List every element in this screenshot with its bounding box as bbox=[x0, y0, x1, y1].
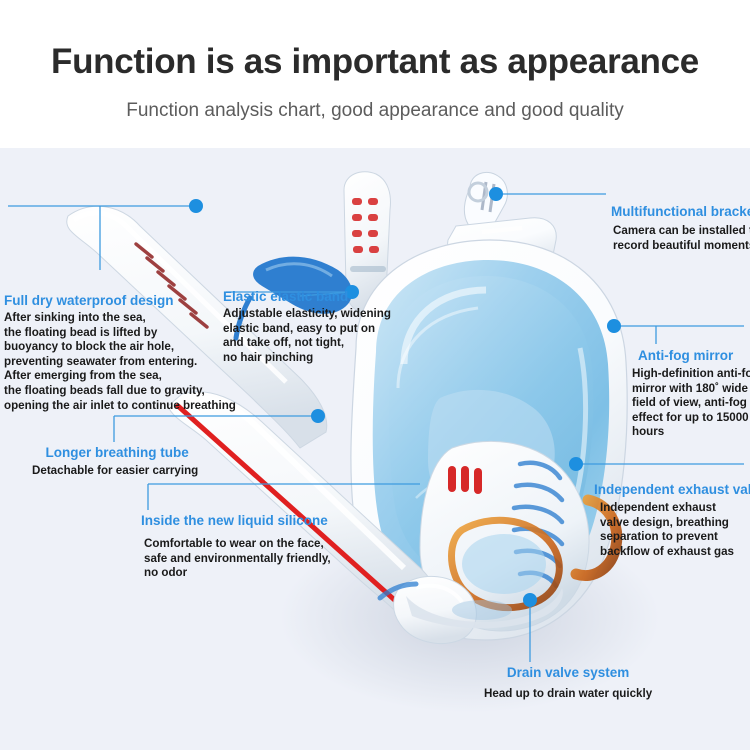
callout-body-line: the floating bead is lifted by bbox=[4, 326, 236, 341]
callout-body-line: buoyancy to block the air hole, bbox=[4, 340, 236, 355]
callout-body-line: the floating beads fall due to gravity, bbox=[4, 384, 236, 399]
callout-body-line: High-definition anti-fog bbox=[632, 367, 750, 382]
dot-drain-valve-system bbox=[523, 593, 537, 607]
callout-heading: Drain valve system bbox=[484, 664, 652, 681]
callout-body: Head up to drain water quickly bbox=[484, 687, 652, 702]
callout-body-line: Adjustable elasticity, widening bbox=[223, 307, 391, 322]
callout-body-line: Comfortable to wear on the face, bbox=[144, 537, 331, 552]
callout-body-line: Independent exhaust bbox=[600, 501, 750, 516]
dot-multifunctional-bracket bbox=[489, 187, 503, 201]
callout-body: High-definition anti-fog mirror with 180… bbox=[632, 367, 750, 440]
page-subtitle: Function analysis chart, good appearance… bbox=[0, 100, 750, 122]
callout-body-line: no hair pinching bbox=[223, 351, 391, 366]
callout-body-line: elastic band, easy to put on bbox=[223, 322, 391, 337]
callout-body-line: valve design, breathing bbox=[600, 516, 750, 531]
page-title: Function is as important as appearance bbox=[0, 42, 750, 82]
dot-full-dry-waterproof-design bbox=[189, 199, 203, 213]
callout-drain-valve-system: Drain valve system Head up to drain wate… bbox=[484, 664, 652, 702]
callout-body-line: field of view, anti-fog bbox=[632, 396, 750, 411]
callout-body-line: hours bbox=[632, 425, 750, 440]
callout-body-line: no odor bbox=[144, 566, 331, 581]
callout-body-line: Head up to drain water quickly bbox=[484, 687, 652, 702]
callout-independent-exhaust-valve: Independent exhaust valve Independent ex… bbox=[594, 481, 750, 559]
callout-body-line: Detachable for easier carrying bbox=[32, 464, 198, 479]
callout-multifunctional-bracket: Multifunctional bracket Camera can be in… bbox=[611, 203, 750, 253]
callout-body: Detachable for easier carrying bbox=[32, 464, 198, 479]
callout-elastic-elastic-band: Elastic elastic band Adjustable elastici… bbox=[223, 288, 391, 365]
callout-body-line: separation to prevent bbox=[600, 530, 750, 545]
callout-heading: Inside the new liquid silicone bbox=[141, 512, 331, 529]
callout-body-line: Camera can be installed to bbox=[613, 224, 750, 239]
callout-longer-breathing-tube: Longer breathing tube Detachable for eas… bbox=[36, 444, 198, 479]
callout-inside-the-new-liquid-silicone: Inside the new liquid silicone Comfortab… bbox=[141, 512, 331, 581]
dot-anti-fog-mirror bbox=[607, 319, 621, 333]
callout-body-line: mirror with 180˚ wide bbox=[632, 382, 750, 397]
callout-body-line: opening the air inlet to continue breath… bbox=[4, 399, 236, 414]
callout-full-dry-waterproof-design: Full dry waterproof design After sinking… bbox=[4, 292, 236, 413]
callout-heading: Anti-fog mirror bbox=[638, 347, 750, 364]
callout-body: Independent exhaust valve design, breath… bbox=[600, 501, 750, 559]
header: Function is as important as appearance F… bbox=[0, 0, 750, 148]
callout-heading: Full dry waterproof design bbox=[4, 292, 236, 309]
diagram-canvas: Full dry waterproof design After sinking… bbox=[0, 148, 750, 750]
dot-longer-breathing-tube bbox=[311, 409, 325, 423]
callout-body-line: preventing seawater from entering. bbox=[4, 355, 236, 370]
callout-body-line: record beautiful moments bbox=[613, 239, 750, 254]
callout-heading: Independent exhaust valve bbox=[594, 481, 750, 498]
callout-heading: Elastic elastic band bbox=[223, 288, 391, 305]
callout-body-line: After emerging from the sea, bbox=[4, 369, 236, 384]
callout-heading: Multifunctional bracket bbox=[611, 203, 750, 220]
callout-body: Camera can be installed to record beauti… bbox=[613, 224, 750, 253]
callout-heading: Longer breathing tube bbox=[36, 444, 198, 461]
callout-body-line: safe and environmentally friendly, bbox=[144, 552, 331, 567]
callout-body-line: effect for up to 15000 bbox=[632, 411, 750, 426]
callout-body-line: and take off, not tight, bbox=[223, 336, 391, 351]
callout-body: Adjustable elasticity, widening elastic … bbox=[223, 307, 391, 365]
callout-body: Comfortable to wear on the face, safe an… bbox=[144, 537, 331, 581]
callout-body-line: After sinking into the sea, bbox=[4, 311, 236, 326]
callout-body-line: backflow of exhaust gas bbox=[600, 545, 750, 560]
dot-independent-exhaust-valve bbox=[569, 457, 583, 471]
callout-body: After sinking into the sea, the floating… bbox=[4, 311, 236, 413]
callout-anti-fog-mirror: Anti-fog mirror High-definition anti-fog… bbox=[632, 347, 750, 440]
infographic-page: Function is as important as appearance F… bbox=[0, 0, 750, 750]
